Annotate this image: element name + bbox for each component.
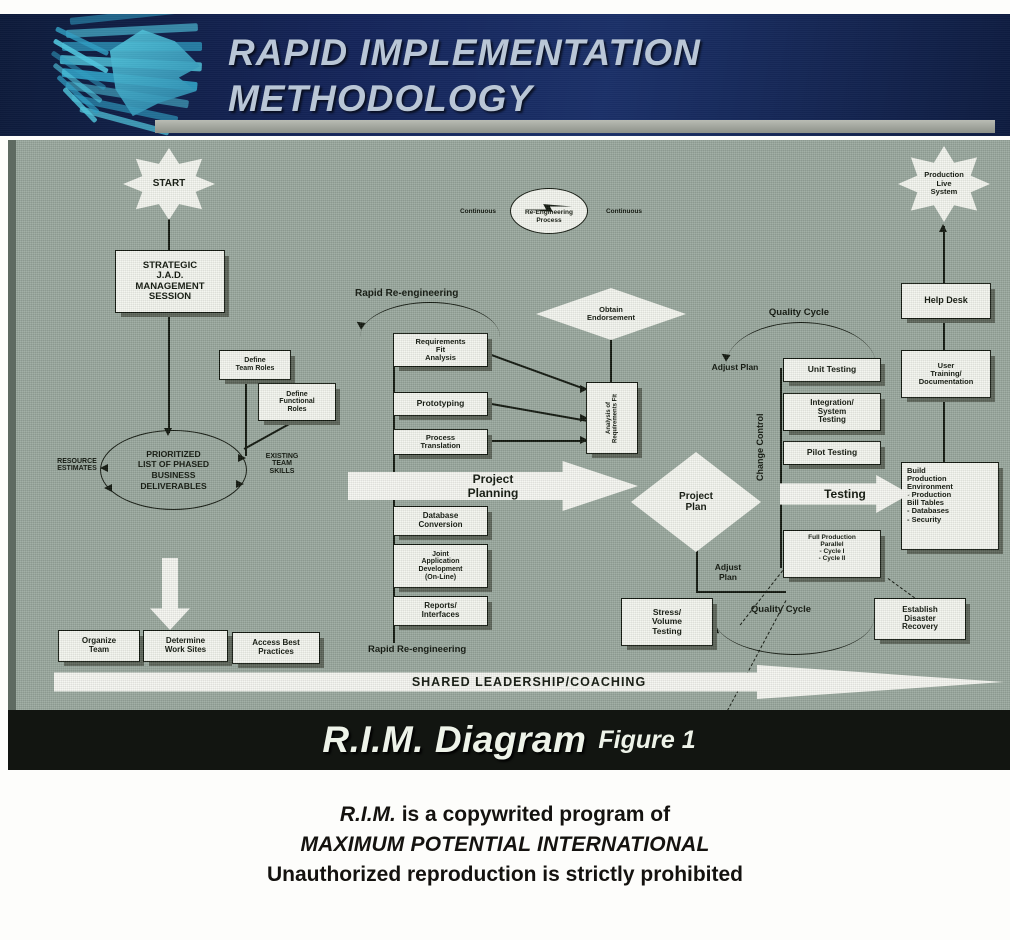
title-line-2: METHODOLOGY [228,76,928,122]
label-rapid-reengineering-top: Rapid Re-engineering [355,288,535,299]
label-adjust-plan-top: Adjust Plan [696,363,774,372]
connector-team-roles [245,380,247,456]
caption-figure: Figure 1 [598,726,695,755]
label-continuous-left: Continuous [448,208,508,215]
node-help-desk-label: Help Desk [924,296,968,306]
node-access-best-practices-label: Access Best Practices [252,639,300,656]
arc-quality-cycle-bottom [714,618,874,655]
label-continuous-right: Continuous [594,208,654,215]
node-production-live-label: Production Live System [924,171,964,196]
footer-rim-mark: R.I.M. [340,803,396,826]
node-define-team-roles-label: Define Team Roles [236,357,275,372]
node-project-plan[interactable]: Project Plan [631,452,761,552]
header-banner: RAPID IMPLEMENTATION METHODOLOGY [0,14,1010,136]
node-help-desk[interactable]: Help Desk [901,283,991,319]
node-process-translation-label: Process Translation [420,434,460,450]
page-title: RAPID IMPLEMENTATION METHODOLOGY [228,30,928,122]
node-full-production-label: Full Production Parallel - Cycle I - Cyc… [808,534,856,562]
node-requirements-fit-label: Requirements Fit Analysis [415,338,465,362]
connector-translation-to-analysis [486,440,586,442]
node-process-translation[interactable]: Process Translation [393,429,488,455]
arrowhead-team-skills [238,454,246,462]
node-joint-application-development[interactable]: Joint Application Development (On-Line) [393,544,488,588]
node-prototyping[interactable]: Prototyping [393,392,488,416]
node-production-live-system[interactable]: Production Live System [898,146,990,222]
footer-line-3: Unauthorized reproduction is strictly pr… [0,860,1010,890]
node-reports-interfaces[interactable]: Reports/ Interfaces [393,596,488,626]
node-define-functional-roles[interactable]: Define Functional Roles [258,383,336,421]
node-requirements-fit-analysis[interactable]: Requirements Fit Analysis [393,333,488,367]
node-start-label: START [153,178,186,189]
node-unit-testing[interactable]: Unit Testing [783,358,881,382]
node-pilot-testing-label: Pilot Testing [807,448,857,457]
label-existing-team-skills: EXISTING TEAM SKILLS [252,445,312,476]
label-change-control: Change Control [756,402,766,492]
node-stress-volume-testing[interactable]: Stress/ Volume Testing [621,598,713,646]
node-strategic-jad[interactable]: STRATEGIC J.A.D. MANAGEMENT SESSION [115,250,225,313]
arrow-testing[interactable]: Testing [780,475,910,513]
node-build-production-environment[interactable]: Build Production Environment - Productio… [901,462,999,550]
diagram-canvas: START STRATEGIC J.A.D. MANAGEMENT SESSIO… [8,140,1010,710]
node-determine-work-sites[interactable]: Determine Work Sites [143,630,228,662]
feather-head-shape [104,22,200,118]
arc-rapid-reengineering-top [360,302,500,337]
node-stress-volume-label: Stress/ Volume Testing [652,608,682,636]
node-determine-work-sites-label: Determine Work Sites [165,637,206,654]
node-prototyping-label: Prototyping [417,399,465,408]
node-joint-app-dev-label: Joint Application Development (On-Line) [419,551,463,581]
arrowhead-help-desk-up [939,224,947,232]
node-disaster-recovery-label: Establish Disaster Recovery [902,606,938,632]
connector-prototyping-to-analysis [486,402,587,421]
page-root: RAPID IMPLEMENTATION METHODOLOGY START S… [0,0,1010,940]
node-database-conversion-label: Database Conversion [418,512,462,529]
label-resource-estimates: RESOURCE ESTIMATES [46,450,108,473]
label-quality-cycle-top: Quality Cycle [744,308,854,318]
label-adjust-plan-bottom: Adjust Plan [698,554,758,582]
node-analysis-requirements[interactable]: Analysis of Requirements Fit [586,382,638,454]
node-analysis-label: Analysis of Requirements Fit [606,385,619,451]
arrow-project-planning[interactable]: Project Planning [348,461,638,511]
node-establish-disaster-recovery[interactable]: Establish Disaster Recovery [874,598,966,640]
arrowhead-resource-estimates-2 [104,484,112,492]
arrowhead-team-skills-2 [236,480,244,488]
node-prioritized-deliverables[interactable]: PRIORITIZED LIST OF PHASED BUSINESS DELI… [100,430,247,510]
arrow-shared-leadership-label: SHARED LEADERSHIP/COACHING [412,675,646,689]
connector-jad-to-prioritized [168,313,170,433]
node-access-best-practices[interactable]: Access Best Practices [232,632,320,664]
footer-line-1-rest: is a copywrited program of [396,803,670,826]
label-rapid-reengineering-bottom: Rapid Re-engineering [368,645,548,655]
node-user-training-label: User Training/ Documentation [919,362,974,386]
node-organize-team[interactable]: Organize Team [58,630,140,662]
connector-testing-spine [780,368,782,568]
connector-endorsement-to-analysis [610,338,612,382]
node-unit-testing-label: Unit Testing [808,365,856,374]
footer-notice: R.I.M. is a copywrited program of MAXIMU… [0,800,1010,890]
node-start[interactable]: START [123,148,215,220]
node-define-functional-roles-label: Define Functional Roles [279,391,314,414]
footer-line-2: MAXIMUM POTENTIAL INTERNATIONAL [0,830,1010,860]
node-prioritized-label: PRIORITIZED LIST OF PHASED BUSINESS DELI… [138,449,209,492]
node-integration-system-testing[interactable]: Integration/ System Testing [783,393,881,431]
arrow-down-to-team-setup [150,558,190,630]
node-reports-interfaces-label: Reports/ Interfaces [422,602,460,619]
title-line-1: RAPID IMPLEMENTATION [228,30,928,76]
node-pilot-testing[interactable]: Pilot Testing [783,441,881,465]
arrow-project-planning-label: Project Planning [468,472,519,500]
node-define-team-roles[interactable]: Define Team Roles [219,350,291,380]
node-integration-testing-label: Integration/ System Testing [810,399,854,425]
arrow-shared-leadership[interactable]: SHARED LEADERSHIP/COACHING [54,665,1004,699]
connector-reqfit-to-analysis [486,352,585,389]
connector-plan-across [696,591,786,593]
node-organize-team-label: Organize Team [82,637,116,654]
node-full-production-parallel[interactable]: Full Production Parallel - Cycle I - Cyc… [783,530,881,578]
arrow-testing-label: Testing [824,487,866,501]
footer-line-1: R.I.M. is a copywrited program of [0,800,1010,830]
connector-training-to-helpdesk [943,319,945,351]
header-rule [155,120,995,133]
connector-build-to-training [943,398,945,462]
label-quality-cycle-bottom: Quality Cycle [726,605,836,615]
node-obtain-endorsement[interactable]: Obtain Endorsement [536,288,686,340]
canvas-left-edge [8,140,16,710]
node-strategic-jad-label: STRATEGIC J.A.D. MANAGEMENT SESSION [135,261,204,302]
caption-title: R.I.M. Diagram [322,719,586,761]
node-obtain-endorsement-label: Obtain Endorsement [587,306,635,323]
node-project-plan-label: Project Plan [679,491,713,513]
caption-bar: R.I.M. Diagram Figure 1 [8,710,1010,770]
node-build-production-label: Build Production Environment - Productio… [907,467,953,524]
node-database-conversion[interactable]: Database Conversion [393,506,488,536]
node-user-training[interactable]: User Training/ Documentation [901,350,991,398]
connector-help-desk-up [943,226,945,284]
